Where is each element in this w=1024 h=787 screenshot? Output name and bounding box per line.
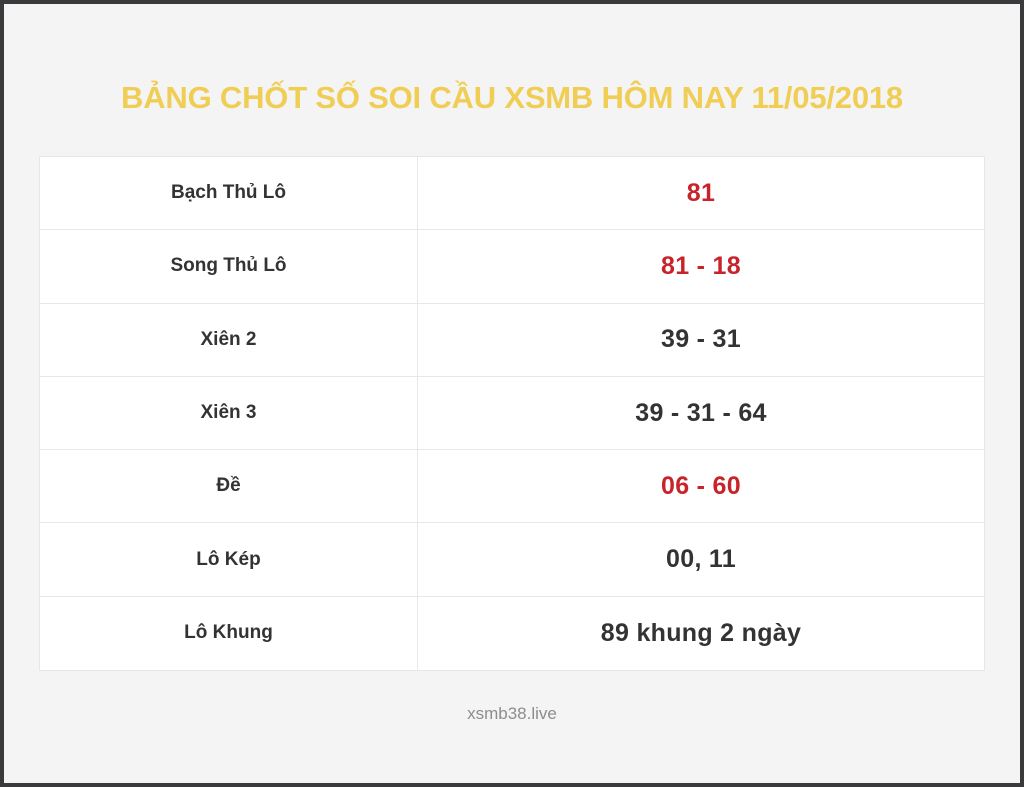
- row-label: Bạch Thủ Lô: [40, 157, 418, 229]
- table-row: Lô Khung89 khung 2 ngày: [40, 597, 984, 670]
- table-row: Xiên 339 - 31 - 64: [40, 377, 984, 450]
- table-row: Lô Kép00, 11: [40, 523, 984, 596]
- row-value: 81: [418, 157, 984, 229]
- table-row: Bạch Thủ Lô81: [40, 157, 984, 230]
- table-row: Song Thủ Lô81 - 18: [40, 230, 984, 303]
- row-value: 39 - 31: [418, 304, 984, 376]
- page-content: BẢNG CHỐT SỐ SOI CẦU XSMB HÔM NAY 11/05/…: [4, 4, 1020, 783]
- row-label: Đề: [40, 450, 418, 522]
- page-frame: BẢNG CHỐT SỐ SOI CẦU XSMB HÔM NAY 11/05/…: [4, 4, 1020, 783]
- row-label: Lô Kép: [40, 523, 418, 595]
- row-value: 39 - 31 - 64: [418, 377, 984, 449]
- row-label: Lô Khung: [40, 597, 418, 670]
- table-row: Xiên 239 - 31: [40, 304, 984, 377]
- site-watermark: xsmb38.live: [4, 704, 1020, 724]
- row-label: Song Thủ Lô: [40, 230, 418, 302]
- row-label: Xiên 3: [40, 377, 418, 449]
- row-value: 00, 11: [418, 523, 984, 595]
- row-value: 89 khung 2 ngày: [418, 597, 984, 670]
- row-value: 06 - 60: [418, 450, 984, 522]
- row-value: 81 - 18: [418, 230, 984, 302]
- page-title: BẢNG CHỐT SỐ SOI CẦU XSMB HÔM NAY 11/05/…: [4, 81, 1020, 115]
- prediction-table: Bạch Thủ Lô81Song Thủ Lô81 - 18Xiên 239 …: [39, 156, 985, 671]
- table-row: Đề06 - 60: [40, 450, 984, 523]
- row-label: Xiên 2: [40, 304, 418, 376]
